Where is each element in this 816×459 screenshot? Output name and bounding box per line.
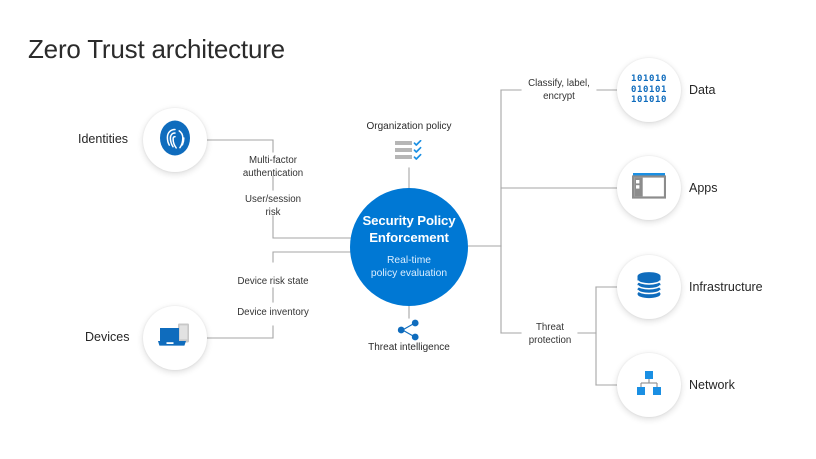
fingerprint-icon xyxy=(158,119,192,162)
database-icon xyxy=(634,270,664,305)
hub-title-line-2: Enforcement xyxy=(362,230,455,247)
node-label-network: Network xyxy=(689,378,735,392)
app-window-icon xyxy=(632,172,666,204)
edge-caption-device-inventory: Device inventory xyxy=(215,307,331,320)
node-organization-policy[interactable] xyxy=(395,140,423,165)
zero-trust-diagram: Zero Trust architecture xyxy=(0,0,816,459)
node-label-identities: Identities xyxy=(78,132,128,146)
checklist-icon xyxy=(395,140,423,160)
node-label-apps: Apps xyxy=(689,181,718,195)
hub-title-line-1: Security Policy xyxy=(362,213,455,230)
node-devices[interactable] xyxy=(143,306,207,370)
edge-caption-multi-factor-authentication: Multi-factor authentication xyxy=(219,155,327,181)
hub-subtitle-line-2: policy evaluation xyxy=(371,267,447,280)
node-label-data: Data xyxy=(689,83,715,97)
wire-left-lower-spine-to-hub xyxy=(273,252,352,262)
security-policy-enforcement-hub[interactable]: Security Policy Enforcement Real-time po… xyxy=(350,188,468,306)
share-nodes-icon xyxy=(396,318,422,342)
wire-identities xyxy=(205,140,273,152)
hub-subtitle-line-1: Real-time xyxy=(371,254,447,267)
edge-caption-classify-label-encrypt: Classify, label, encrypt xyxy=(513,78,605,104)
edge-caption-user-session-risk: User/session risk xyxy=(219,194,327,220)
edge-caption-device-risk-state: Device risk state xyxy=(215,276,331,289)
node-label-infrastructure: Infrastructure xyxy=(689,280,763,294)
node-data[interactable]: 101010 010101 101010 xyxy=(617,58,681,122)
laptop-phone-icon xyxy=(156,321,194,356)
node-apps[interactable] xyxy=(617,156,681,220)
edge-caption-threat-protection: Threat protection xyxy=(512,322,588,348)
node-infrastructure[interactable] xyxy=(617,255,681,319)
node-label-organization-policy: Organization policy xyxy=(339,121,479,132)
wire-devices xyxy=(205,326,273,338)
network-hierarchy-icon xyxy=(634,369,664,402)
node-network[interactable] xyxy=(617,353,681,417)
binary-icon: 101010 010101 101010 xyxy=(631,74,667,106)
node-identities[interactable] xyxy=(143,108,207,172)
node-label-threat-intelligence: Threat intelligence xyxy=(339,342,479,353)
node-label-devices: Devices xyxy=(85,330,129,344)
